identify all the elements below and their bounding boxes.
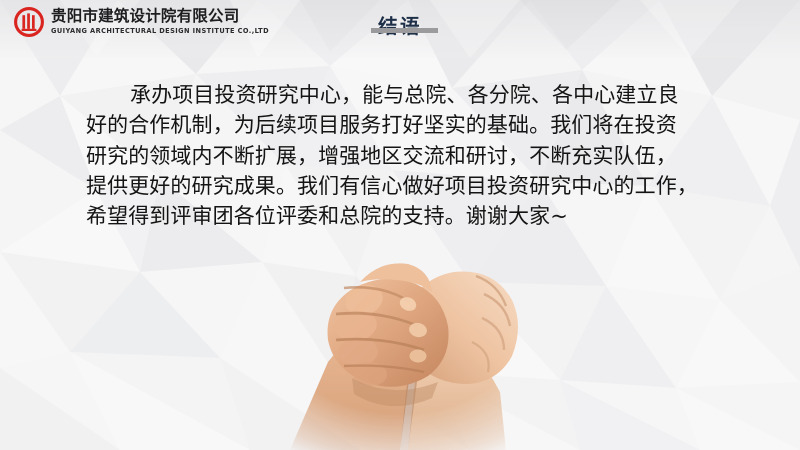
clasped-hands-photo — [232, 222, 568, 450]
body-line: 希望得到评审团各位评委和总院的支持。谢谢大家~ — [86, 201, 754, 231]
title-underline-rule — [371, 28, 438, 33]
body-line: 承办项目投资研究中心，能与总院、各分院、各中心建立良 — [86, 80, 754, 110]
presentation-slide: 贵阳市建筑设计院有限公司 GUIYANG ARCHITECTURAL DESIG… — [0, 0, 800, 450]
page-title: 结语 — [378, 17, 422, 37]
body-line: 好的合作机制，为后续项目服务打好坚实的基础。我们将在投资 — [86, 110, 754, 140]
body-line: 研究的领域内不断扩展，增强地区交流和研讨，不断充实队伍， — [86, 141, 754, 171]
body-line: 提供更好的研究成果。我们有信心做好项目投资研究中心的工作， — [86, 171, 754, 201]
slide-title-container: 结语 — [0, 17, 800, 37]
body-text: 承办项目投资研究中心，能与总院、各分院、各中心建立良 好的合作机制，为后续项目服… — [86, 80, 754, 231]
